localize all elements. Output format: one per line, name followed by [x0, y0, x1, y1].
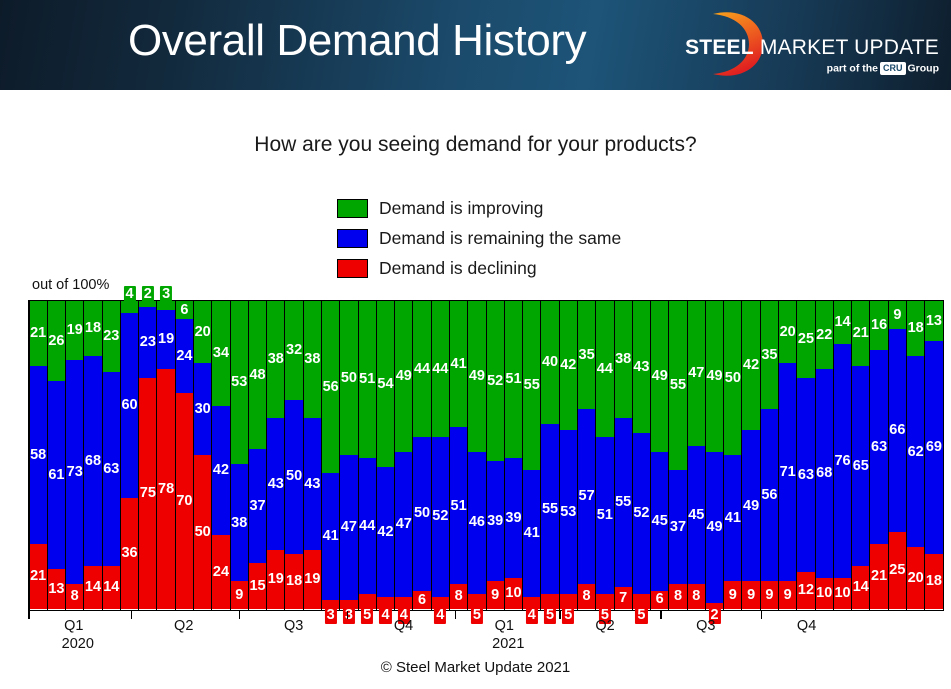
bar-value-label: 69 [926, 440, 942, 455]
bar-column[interactable]: 42535 [559, 301, 578, 610]
bar-value-label: 42 [213, 463, 229, 478]
bar-segment-improving: 25 [797, 301, 814, 378]
bar-segment-same: 39 [505, 458, 522, 578]
bar-value-label: 14 [85, 580, 101, 595]
bar-segment-same: 41 [523, 470, 540, 596]
bar-value-label: 16 [871, 318, 887, 333]
bar-segment-improving: 35 [761, 301, 778, 409]
bar-value-label: 39 [505, 511, 521, 526]
bar-value-label: 23 [103, 329, 119, 344]
bar-column[interactable]: 44524 [431, 301, 450, 610]
bar-segment-improving: 42 [742, 301, 759, 430]
bar-segment-declining: 4 [523, 597, 540, 609]
bar-value-label: 65 [853, 459, 869, 474]
bar-segment-same: 66 [889, 329, 906, 532]
bar-value-label: 35 [579, 348, 595, 363]
bar-value-label: 70 [176, 494, 192, 509]
bar-value-label: 9 [784, 588, 792, 603]
bar-value-label: 52 [487, 374, 503, 389]
bar-value-label: 66 [889, 423, 905, 438]
bar-segment-declining: 8 [66, 584, 83, 609]
bar-value-label: 45 [688, 508, 704, 523]
bar-segment-declining: 5 [468, 594, 485, 609]
bar-column[interactable]: 31978 [156, 301, 175, 610]
bar-segment-same: 73 [66, 360, 83, 585]
bar-segment-improving: 3 [157, 301, 174, 310]
bar-segment-improving: 18 [84, 301, 101, 356]
bar-value-label: 34 [213, 346, 229, 361]
bar-value-label: 63 [103, 462, 119, 477]
bar-value-label: 42 [743, 358, 759, 373]
bar-segment-improving: 40 [541, 301, 558, 424]
bar-value-label: 50 [725, 371, 741, 386]
bar-segment-same: 47 [340, 455, 357, 600]
bar-value-label: 22 [816, 328, 832, 343]
bar-value-label: 20 [908, 571, 924, 586]
bar-value-label: 18 [286, 574, 302, 589]
bar-segment-declining: 5 [596, 594, 613, 609]
bar-value-label: 56 [761, 488, 777, 503]
quarter-label: Q3 [284, 618, 303, 634]
bar-segment-same: 42 [212, 406, 229, 535]
bar-column[interactable]: 96625 [888, 301, 907, 610]
legend-item-1[interactable]: Demand is remaining the same [337, 223, 621, 253]
bar-segment-improving: 43 [633, 301, 650, 433]
bar-value-label: 50 [341, 371, 357, 386]
bar-column[interactable]: 52399 [486, 301, 505, 610]
bar-value-label: 23 [140, 335, 156, 350]
bar-segment-same: 58 [30, 366, 47, 545]
bar-value-label: 10 [834, 586, 850, 601]
bar-column[interactable]: 384319 [303, 301, 322, 610]
bar-segment-declining: 9 [779, 581, 796, 609]
bar-segment-improving: 47 [688, 301, 705, 446]
bar-segment-declining: 75 [139, 378, 156, 609]
bar-column[interactable]: 46036 [120, 301, 139, 610]
bar-segment-same: 65 [852, 366, 869, 566]
bar-value-label: 6 [418, 593, 426, 608]
year-labels: 20202021 [28, 636, 944, 658]
bar-segment-same: 37 [249, 449, 266, 563]
bar-segment-declining: 18 [285, 554, 302, 609]
page-header: Overall Demand History STEEL MARKET UPDA… [0, 0, 951, 90]
bar-column[interactable]: 38557 [614, 301, 633, 610]
bar-segment-same: 41 [724, 455, 741, 581]
bar-column[interactable]: 20719 [778, 301, 797, 610]
bar-segment-improving: 20 [779, 301, 796, 363]
bar-segment-improving: 53 [231, 301, 248, 464]
bar-segment-declining: 13 [48, 569, 65, 609]
bar-value-label: 15 [249, 579, 265, 594]
logo-word-steel: STEEL [685, 36, 754, 59]
bar-segment-same: 52 [432, 437, 449, 597]
bar-column[interactable]: 44515 [595, 301, 614, 610]
bar-column[interactable]: 62470 [175, 301, 194, 610]
bar-value-label: 47 [341, 520, 357, 535]
bar-segment-improving: 55 [523, 301, 540, 470]
bar-segment-declining: 21 [870, 544, 887, 609]
bar-segment-same: 68 [84, 356, 101, 565]
bar-segment-same: 69 [925, 341, 942, 554]
bar-segment-same: 41 [322, 473, 339, 599]
bar-value-label: 41 [524, 526, 540, 541]
bar-column[interactable]: 50473 [339, 301, 358, 610]
bar-segment-improving: 13 [925, 301, 942, 341]
bar-segment-improving: 34 [212, 301, 229, 406]
bar-segment-same: 71 [779, 363, 796, 582]
bar-segment-improving: 44 [432, 301, 449, 437]
bar-value-label: 42 [377, 525, 393, 540]
bar-value-label: 49 [396, 369, 412, 384]
chart-question: How are you seeing demand for your produ… [0, 133, 951, 157]
bar-segment-declining: 25 [889, 532, 906, 609]
bar-segment-declining: 20 [907, 547, 924, 609]
bar-value-label: 51 [597, 508, 613, 523]
bar-column[interactable]: 49492 [705, 301, 724, 610]
bar-value-label: 18 [85, 321, 101, 336]
bar-value-label: 47 [396, 517, 412, 532]
bar-value-label: 55 [524, 378, 540, 393]
bar-column[interactable]: 483715 [248, 301, 267, 610]
bar-value-label: 37 [670, 520, 686, 535]
bar-column[interactable]: 325018 [284, 301, 303, 610]
bar-segment-same: 19 [157, 310, 174, 369]
logo-tagline-pre: part of the [827, 62, 878, 74]
bar-value-label: 50 [195, 525, 211, 540]
bar-column[interactable]: 256312 [796, 301, 815, 610]
bar-value-label: 63 [798, 468, 814, 483]
bar-segment-same: 37 [669, 470, 686, 584]
bar-column[interactable]: 186814 [83, 301, 102, 610]
legend-item-0[interactable]: Demand is improving [337, 193, 621, 223]
bar-value-label: 8 [583, 589, 591, 604]
bar-value-label: 51 [505, 372, 521, 387]
quarter-label: Q1 [495, 618, 514, 634]
bar-value-label: 9 [765, 588, 773, 603]
bar-segment-declining: 4 [395, 597, 412, 609]
bar-value-label: 55 [670, 378, 686, 393]
chart-legend: Demand is improvingDemand is remaining t… [337, 193, 621, 283]
bar-value-label: 44 [414, 362, 430, 377]
bar-segment-same: 63 [103, 372, 120, 566]
bar-column[interactable]: 55378 [668, 301, 687, 610]
bar-segment-improving: 44 [413, 301, 430, 437]
bar-segment-declining: 9 [742, 581, 759, 609]
bar-value-label: 43 [268, 477, 284, 492]
bar-value-label: 56 [323, 380, 339, 395]
bar-value-label: 9 [491, 588, 499, 603]
bar-column[interactable]: 216514 [851, 301, 870, 610]
bar-column[interactable]: 344224 [211, 301, 230, 610]
bar-segment-improving: 50 [340, 301, 357, 455]
bar-segment-declining: 4 [432, 597, 449, 609]
bar-segment-improving: 21 [30, 301, 47, 366]
bar-segment-improving: 4 [121, 301, 138, 313]
bar-column[interactable]: 56413 [321, 301, 340, 610]
bar-value-label: 36 [121, 546, 137, 561]
bar-value-label: 44 [359, 519, 375, 534]
bar-segment-same: 63 [870, 350, 887, 544]
bar-segment-improving: 14 [834, 301, 851, 344]
bar-value-label: 19 [268, 572, 284, 587]
bar-segment-declining: 8 [688, 584, 705, 609]
bar-value-label: 53 [231, 375, 247, 390]
bar-value-label: 78 [158, 482, 174, 497]
quarter-label: Q3 [696, 618, 715, 634]
bar-segment-declining: 24 [212, 535, 229, 609]
bar-segment-improving: 54 [377, 301, 394, 467]
bar-segment-declining: 50 [194, 455, 211, 609]
bar-segment-same: 55 [615, 418, 632, 587]
bar-segment-same: 47 [395, 452, 412, 597]
bar-segment-declining: 14 [103, 566, 120, 609]
bar-value-label: 55 [542, 502, 558, 517]
bar-segment-declining: 3 [340, 600, 357, 609]
bar-segment-same: 56 [761, 409, 778, 581]
bar-segment-improving: 20 [194, 301, 211, 363]
bar-segment-declining: 78 [157, 369, 174, 609]
bar-column[interactable]: 384319 [266, 301, 285, 610]
bar-value-label: 20 [780, 325, 796, 340]
bar-column[interactable]: 47458 [687, 301, 706, 610]
bar-value-label: 47 [688, 366, 704, 381]
bar-segment-declining: 12 [797, 572, 814, 609]
bar-value-label: 38 [304, 352, 320, 367]
bar-value-label: 4 [124, 286, 136, 303]
bar-segment-same: 53 [560, 430, 577, 593]
bar-value-label: 6 [180, 303, 188, 318]
bar-segment-improving: 49 [706, 301, 723, 452]
bar-segment-same: 52 [633, 433, 650, 593]
bar-column[interactable]: 44506 [412, 301, 431, 610]
bar-column[interactable]: 35578 [577, 301, 596, 610]
bar-segment-declining: 2 [706, 603, 723, 609]
quarter-label: Q4 [797, 618, 816, 634]
bar-column[interactable]: 49456 [650, 301, 669, 610]
bar-column[interactable]: 42499 [741, 301, 760, 610]
legend-swatch-icon [337, 259, 368, 278]
bar-value-label: 41 [451, 357, 467, 372]
bar-value-label: 76 [834, 454, 850, 469]
bar-segment-improving: 22 [816, 301, 833, 369]
quarter-label: Q2 [174, 618, 193, 634]
legend-swatch-icon [337, 229, 368, 248]
bar-value-label: 49 [706, 369, 722, 384]
bar-column[interactable]: 147610 [833, 301, 852, 610]
legend-swatch-icon [337, 199, 368, 218]
bar-value-label: 18 [926, 574, 942, 589]
bar-value-label: 24 [213, 565, 229, 580]
bar-segment-declining: 5 [359, 594, 376, 609]
bar-value-label: 38 [231, 516, 247, 531]
bar-segment-improving: 50 [724, 301, 741, 455]
bar-segment-improving: 18 [907, 301, 924, 356]
bar-value-label: 8 [692, 589, 700, 604]
bar-segment-declining: 9 [724, 581, 741, 609]
bar-segment-declining: 6 [651, 591, 668, 609]
bar-value-label: 42 [560, 358, 576, 373]
bar-segment-improving: 9 [889, 301, 906, 329]
bar-column[interactable]: 186220 [906, 301, 925, 610]
bar-value-label: 13 [926, 314, 942, 329]
year-label: 2021 [492, 636, 524, 652]
bar-segment-same: 49 [742, 430, 759, 581]
bar-value-label: 75 [140, 486, 156, 501]
page-title: Overall Demand History [128, 16, 586, 66]
bar-value-label: 19 [67, 323, 83, 338]
bar-value-label: 19 [158, 332, 174, 347]
bar-segment-improving: 32 [285, 301, 302, 400]
year-label: 2020 [62, 636, 94, 652]
bar-value-label: 38 [268, 352, 284, 367]
bar-segment-improving: 21 [852, 301, 869, 366]
bar-value-label: 14 [853, 580, 869, 595]
bar-segment-declining: 7 [615, 587, 632, 609]
bar-value-label: 10 [816, 586, 832, 601]
bar-segment-improving: 16 [870, 301, 887, 350]
bar-value-label: 51 [359, 372, 375, 387]
bar-column[interactable]: 513910 [504, 301, 523, 610]
bar-value-label: 45 [652, 514, 668, 529]
legend-label: Demand is declining [379, 258, 537, 279]
bar-segment-improving: 52 [487, 301, 504, 461]
bar-column[interactable]: 266113 [47, 301, 66, 610]
logo-tagline-post: Group [908, 62, 940, 74]
bar-segment-declining: 14 [84, 566, 101, 609]
bar-column[interactable]: 35569 [760, 301, 779, 610]
bar-segment-improving: 51 [505, 301, 522, 458]
bar-value-label: 26 [48, 334, 64, 349]
bar-column[interactable]: 49474 [394, 301, 413, 610]
bar-segment-same: 49 [706, 452, 723, 603]
bar-column[interactable]: 40555 [540, 301, 559, 610]
bar-segment-improving: 38 [267, 301, 284, 418]
bar-value-label: 19 [304, 572, 320, 587]
bar-segment-same: 55 [541, 424, 558, 593]
logo-tagline: part of theCRUGroup [681, 62, 939, 75]
bar-segment-same: 43 [267, 418, 284, 550]
bar-segment-declining: 5 [541, 594, 558, 609]
bar-segment-improving: 44 [596, 301, 613, 437]
bar-segment-declining: 14 [852, 566, 869, 609]
bar-column[interactable]: 22375 [138, 301, 157, 610]
bar-segment-declining: 19 [304, 550, 321, 609]
bar-column[interactable]: 51445 [358, 301, 377, 610]
bar-column[interactable]: 236314 [102, 301, 121, 610]
bar-value-label: 71 [780, 465, 796, 480]
bar-value-label: 13 [48, 582, 64, 597]
bar-segment-same: 50 [413, 437, 430, 591]
bar-value-label: 44 [432, 362, 448, 377]
bar-segment-declining: 8 [450, 584, 467, 609]
bar-value-label: 6 [656, 592, 664, 607]
bar-column[interactable]: 136918 [924, 301, 943, 610]
bar-segment-improving: 19 [66, 301, 83, 360]
axis-note: out of 100% [32, 277, 109, 293]
bar-value-label: 2 [142, 286, 154, 303]
bar-value-label: 73 [67, 465, 83, 480]
bar-segment-improving: 35 [578, 301, 595, 409]
bar-value-label: 37 [249, 499, 265, 514]
bar-value-label: 44 [597, 362, 613, 377]
bar-column[interactable]: 54424 [376, 301, 395, 610]
bar-value-label: 68 [816, 466, 832, 481]
bar-value-label: 54 [377, 377, 393, 392]
bar-column[interactable]: 166321 [869, 301, 888, 610]
bar-value-label: 8 [674, 589, 682, 604]
bar-value-label: 50 [286, 469, 302, 484]
bar-segment-same: 60 [121, 313, 138, 498]
bar-value-label: 9 [235, 588, 243, 603]
bar-column[interactable]: 50419 [723, 301, 742, 610]
quarter-label: Q1 [64, 618, 83, 634]
bar-column[interactable]: 55414 [522, 301, 541, 610]
bar-value-label: 41 [323, 529, 339, 544]
bar-segment-declining: 8 [578, 584, 595, 609]
bar-segment-same: 61 [48, 381, 65, 569]
bar-column[interactable]: 43525 [632, 301, 651, 610]
bar-value-label: 58 [30, 448, 46, 463]
bar-value-label: 50 [414, 506, 430, 521]
bar-column[interactable]: 203050 [193, 301, 212, 610]
bar-value-label: 21 [871, 569, 887, 584]
legend-item-2[interactable]: Demand is declining [337, 253, 621, 283]
bar-value-label: 48 [249, 368, 265, 383]
copyright-notice: © Steel Market Update 2021 [0, 659, 951, 676]
bar-value-label: 35 [761, 348, 777, 363]
bar-column[interactable]: 49465 [467, 301, 486, 610]
bar-value-label: 7 [619, 591, 627, 606]
bar-segment-declining: 18 [925, 554, 942, 609]
bar-column[interactable]: 53389 [230, 301, 249, 610]
bar-column[interactable]: 226810 [815, 301, 834, 610]
bar-segment-declining: 21 [30, 544, 47, 609]
bar-segment-same: 45 [651, 452, 668, 591]
bar-value-label: 57 [579, 489, 595, 504]
bar-value-label: 30 [195, 402, 211, 417]
bar-segment-declining: 10 [816, 578, 833, 609]
bar-value-label: 49 [743, 499, 759, 514]
bar-value-label: 39 [487, 514, 503, 529]
bar-segment-improving: 6 [176, 301, 193, 319]
bar-segment-same: 23 [139, 307, 156, 378]
bar-segment-same: 43 [304, 418, 321, 550]
bar-value-label: 51 [451, 499, 467, 514]
bar-segment-same: 62 [907, 356, 924, 547]
bar-segment-improving: 38 [304, 301, 321, 418]
bar-column[interactable]: 215821 [29, 301, 48, 610]
bar-segment-declining: 3 [322, 600, 339, 609]
bar-segment-declining: 70 [176, 393, 193, 609]
bar-value-label: 21 [853, 326, 869, 341]
brand-logo: STEEL MARKET UPDATE part of theCRUGroup [681, 8, 939, 84]
bar-segment-same: 30 [194, 363, 211, 455]
bar-segment-improving: 42 [560, 301, 577, 430]
bar-value-label: 8 [71, 589, 79, 604]
bar-value-label: 55 [615, 495, 631, 510]
bar-segment-same: 46 [468, 452, 485, 594]
bar-value-label: 14 [834, 315, 850, 330]
bar-segment-declining: 5 [633, 594, 650, 609]
bar-segment-same: 39 [487, 461, 504, 581]
bar-column[interactable]: 19738 [65, 301, 84, 610]
bar-column[interactable]: 41518 [449, 301, 468, 610]
bar-segment-declining: 19 [267, 550, 284, 609]
logo-word-market-update: MARKET UPDATE [754, 36, 939, 59]
bar-value-label: 60 [121, 398, 137, 413]
bar-value-label: 25 [798, 332, 814, 347]
bar-segment-declining: 9 [487, 581, 504, 609]
